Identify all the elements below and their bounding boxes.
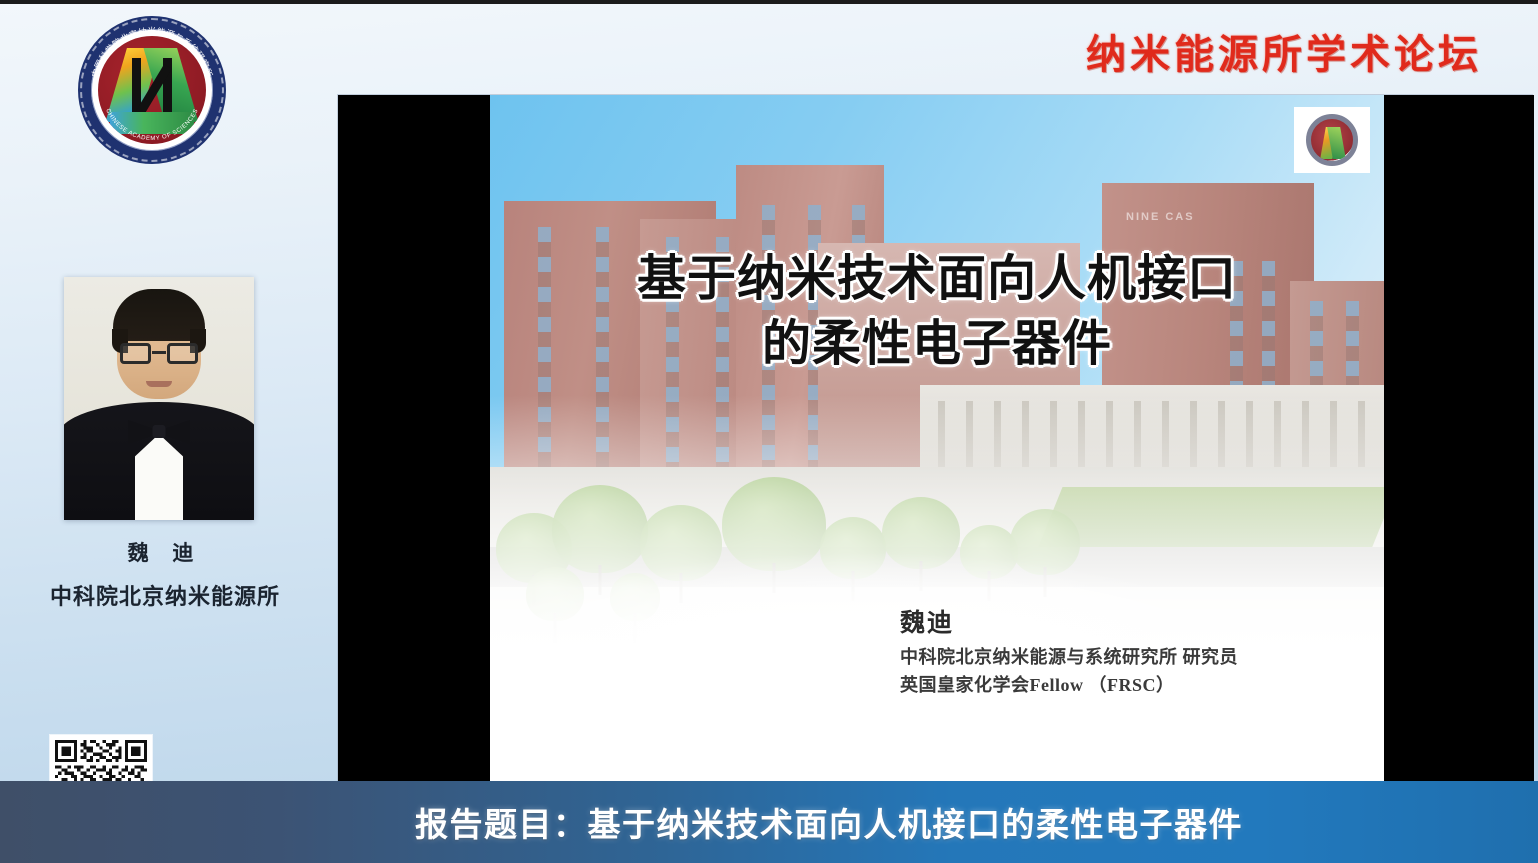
forum-title: 纳米能源所学术论坛 (1086, 22, 1482, 80)
svg-text:CHINESE ACADEMY OF SCIENCES: CHINESE ACADEMY OF SCIENCES (104, 108, 200, 142)
presentation-slide: NINE CAS (490, 95, 1384, 782)
banner-topic-text: 报告题目：基于纳米技术面向人机接口的柔性电子器件 (0, 781, 1538, 863)
slide-title-line-1: 基于纳米技术面向人机接口 (637, 252, 1237, 306)
slide-presenter-affiliation: 中科院北京纳米能源与系统研究所 研究员 (900, 644, 1238, 672)
slide-presenter-fellowship: 英国皇家化学会Fellow （FRSC） (900, 672, 1238, 700)
building-sign: NINE CAS (1126, 211, 1195, 223)
institute-logo-mini-disc (1306, 114, 1358, 166)
slide-title: 基于纳米技术面向人机接口 的柔性电子器件 (490, 247, 1384, 376)
bottom-banner: 报告题目：基于纳米技术面向人机接口的柔性电子器件 (0, 781, 1538, 863)
institute-logo-small-icon (1294, 107, 1370, 173)
portrait-mouth (146, 381, 172, 387)
glasses-icon (120, 343, 198, 365)
svg-text:中国科学院北京纳米能源与系统研究所: 中国科学院北京纳米能源与系统研究所 (89, 26, 214, 79)
speaker-organization: 中科院北京纳米能源所 (0, 579, 330, 611)
slide-presenter-name: 魏迪 (900, 603, 1238, 639)
emblem-arc-text: 中国科学院北京纳米能源与系统研究所 CHINESE ACADEMY OF SCI… (78, 16, 226, 164)
speaker-name: 魏 迪 (0, 537, 330, 567)
slide-title-line-2: 的柔性电子器件 (490, 312, 1384, 377)
nanoenergy-institute-emblem-icon: 中国科学院北京纳米能源与系统研究所 CHINESE ACADEMY OF SCI… (78, 16, 226, 164)
video-player-area[interactable]: NINE CAS (338, 95, 1534, 782)
glasses-left-lens (120, 343, 151, 364)
broadcast-screen: 中国科学院北京纳米能源与系统研究所 CHINESE ACADEMY OF SCI… (0, 0, 1538, 863)
portrait-bowtie-knot (153, 425, 166, 438)
glasses-right-lens (167, 343, 198, 364)
glasses-bridge (152, 351, 166, 354)
speaker-portrait (64, 277, 254, 520)
slide-presenter-block: 魏迪 中科院北京纳米能源与系统研究所 研究员 英国皇家化学会Fellow （FR… (900, 603, 1238, 700)
top-edge-strip (0, 0, 1538, 4)
